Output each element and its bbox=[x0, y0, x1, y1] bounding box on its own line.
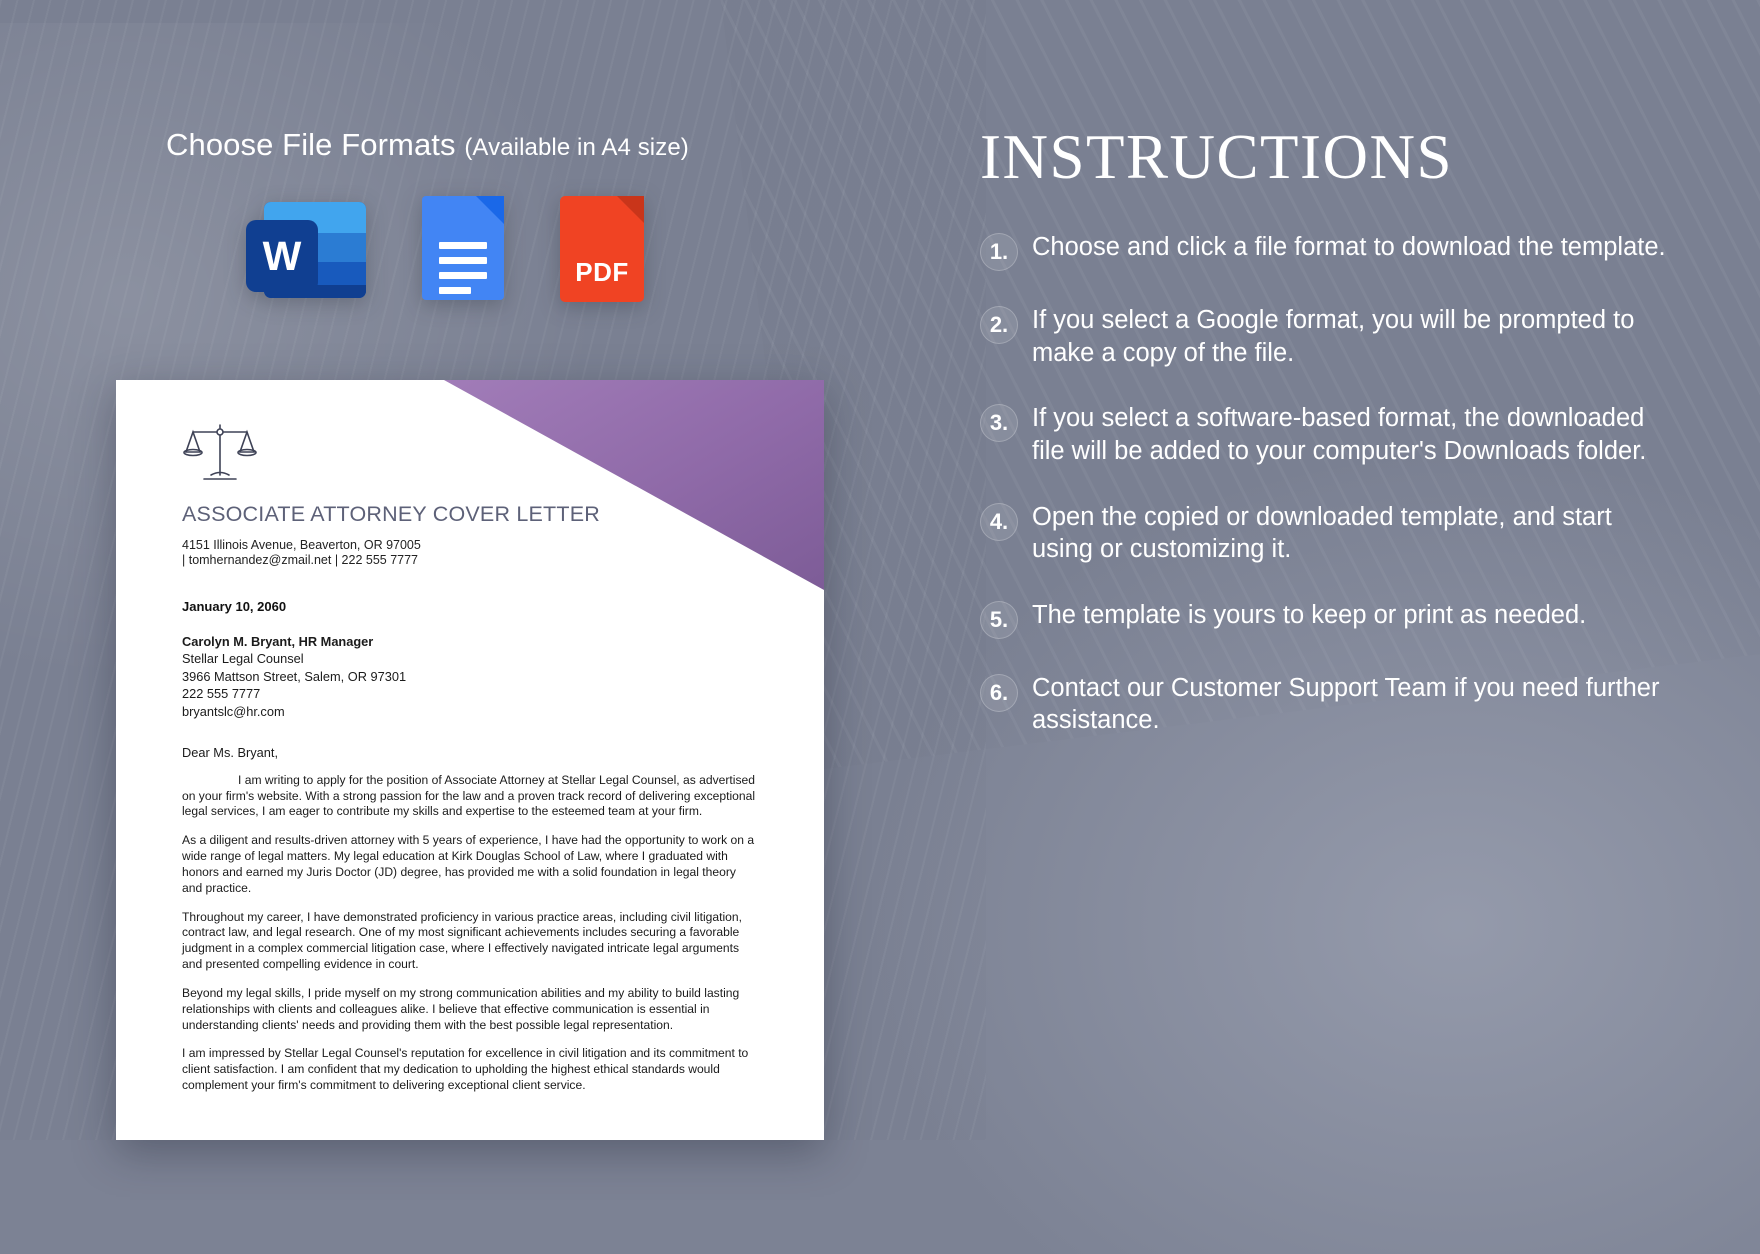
instruction-number: 1. bbox=[980, 233, 1018, 271]
file-formats-heading-sub: (Available in A4 size) bbox=[464, 134, 689, 161]
instruction-text: Choose and click a file format to downlo… bbox=[1032, 231, 1666, 264]
instruction-number: 5. bbox=[980, 601, 1018, 639]
document-date: January 10, 2060 bbox=[182, 599, 780, 614]
file-formats-heading-main: Choose File Formats bbox=[166, 127, 464, 162]
instruction-text: If you select a software-based format, t… bbox=[1032, 402, 1672, 467]
recipient-name: Carolyn M. Bryant, HR Manager bbox=[182, 633, 780, 651]
instruction-number: 2. bbox=[980, 306, 1018, 344]
document-title: ASSOCIATE ATTORNEY COVER LETTER bbox=[182, 502, 780, 527]
pdf-icon-label: PDF bbox=[560, 257, 644, 288]
instruction-item: 6. Contact our Customer Support Team if … bbox=[980, 672, 1760, 737]
instruction-number: 3. bbox=[980, 404, 1018, 442]
document-paragraph: I am writing to apply for the position o… bbox=[182, 773, 757, 820]
document-paragraph: I am impressed by Stellar Legal Counsel'… bbox=[182, 1046, 757, 1093]
file-format-icon-row: W PDF bbox=[246, 196, 644, 302]
document-salutation: Dear Ms. Bryant, bbox=[182, 745, 780, 760]
scales-of-justice-icon bbox=[182, 418, 258, 488]
instruction-text: The template is yours to keep or print a… bbox=[1032, 599, 1586, 632]
document-paragraph: As a diligent and results-driven attorne… bbox=[182, 833, 757, 896]
instruction-item: 1. Choose and click a file format to dow… bbox=[980, 231, 1760, 271]
instructions-section: INSTRUCTIONS 1. Choose and click a file … bbox=[950, 0, 1760, 1140]
instruction-item: 5. The template is yours to keep or prin… bbox=[980, 599, 1760, 639]
instruction-text: Open the copied or downloaded template, … bbox=[1032, 501, 1672, 566]
instruction-text: If you select a Google format, you will … bbox=[1032, 304, 1672, 369]
instruction-text: Contact our Customer Support Team if you… bbox=[1032, 672, 1672, 737]
instructions-title: INSTRUCTIONS bbox=[980, 126, 1760, 189]
google-docs-icon-text-line bbox=[439, 272, 487, 279]
file-formats-heading: Choose File Formats (Available in A4 siz… bbox=[166, 127, 689, 163]
google-docs-format-icon[interactable] bbox=[422, 196, 504, 300]
document-paragraph: Beyond my legal skills, I pride myself o… bbox=[182, 986, 757, 1033]
sender-contact: | tomhernandez@zmail.net | 222 555 7777 bbox=[182, 553, 780, 568]
document-recipient-block: Carolyn M. Bryant, HR Manager Stellar Le… bbox=[182, 633, 780, 721]
instruction-item: 4. Open the copied or downloaded templat… bbox=[980, 501, 1760, 566]
document-paragraph: Throughout my career, I have demonstrate… bbox=[182, 910, 757, 973]
recipient-email: bryantslc@hr.com bbox=[182, 703, 780, 721]
sender-address: 4151 Illinois Avenue, Beaverton, OR 9700… bbox=[182, 538, 780, 553]
instruction-number: 4. bbox=[980, 503, 1018, 541]
document-sender-block: 4151 Illinois Avenue, Beaverton, OR 9700… bbox=[182, 538, 780, 569]
instruction-item: 2. If you select a Google format, you wi… bbox=[980, 304, 1760, 369]
cover-letter-document-preview[interactable]: ASSOCIATE ATTORNEY COVER LETTER 4151 Ill… bbox=[116, 380, 824, 1140]
google-docs-icon-text-line bbox=[439, 257, 487, 264]
instruction-item: 3. If you select a software-based format… bbox=[980, 402, 1760, 467]
file-formats-section: Choose File Formats (Available in A4 siz… bbox=[0, 0, 840, 1140]
document-content: ASSOCIATE ATTORNEY COVER LETTER 4151 Ill… bbox=[116, 380, 824, 1094]
pdf-format-icon[interactable]: PDF bbox=[560, 196, 644, 302]
google-docs-icon-text-line bbox=[439, 287, 471, 294]
google-docs-icon-text-line bbox=[439, 242, 487, 249]
instruction-number: 6. bbox=[980, 674, 1018, 712]
word-format-icon[interactable]: W bbox=[246, 196, 366, 300]
word-icon-letter: W bbox=[246, 220, 318, 292]
recipient-phone: 222 555 7777 bbox=[182, 685, 780, 703]
recipient-company: Stellar Legal Counsel bbox=[182, 650, 780, 668]
recipient-address: 3966 Mattson Street, Salem, OR 97301 bbox=[182, 668, 780, 686]
